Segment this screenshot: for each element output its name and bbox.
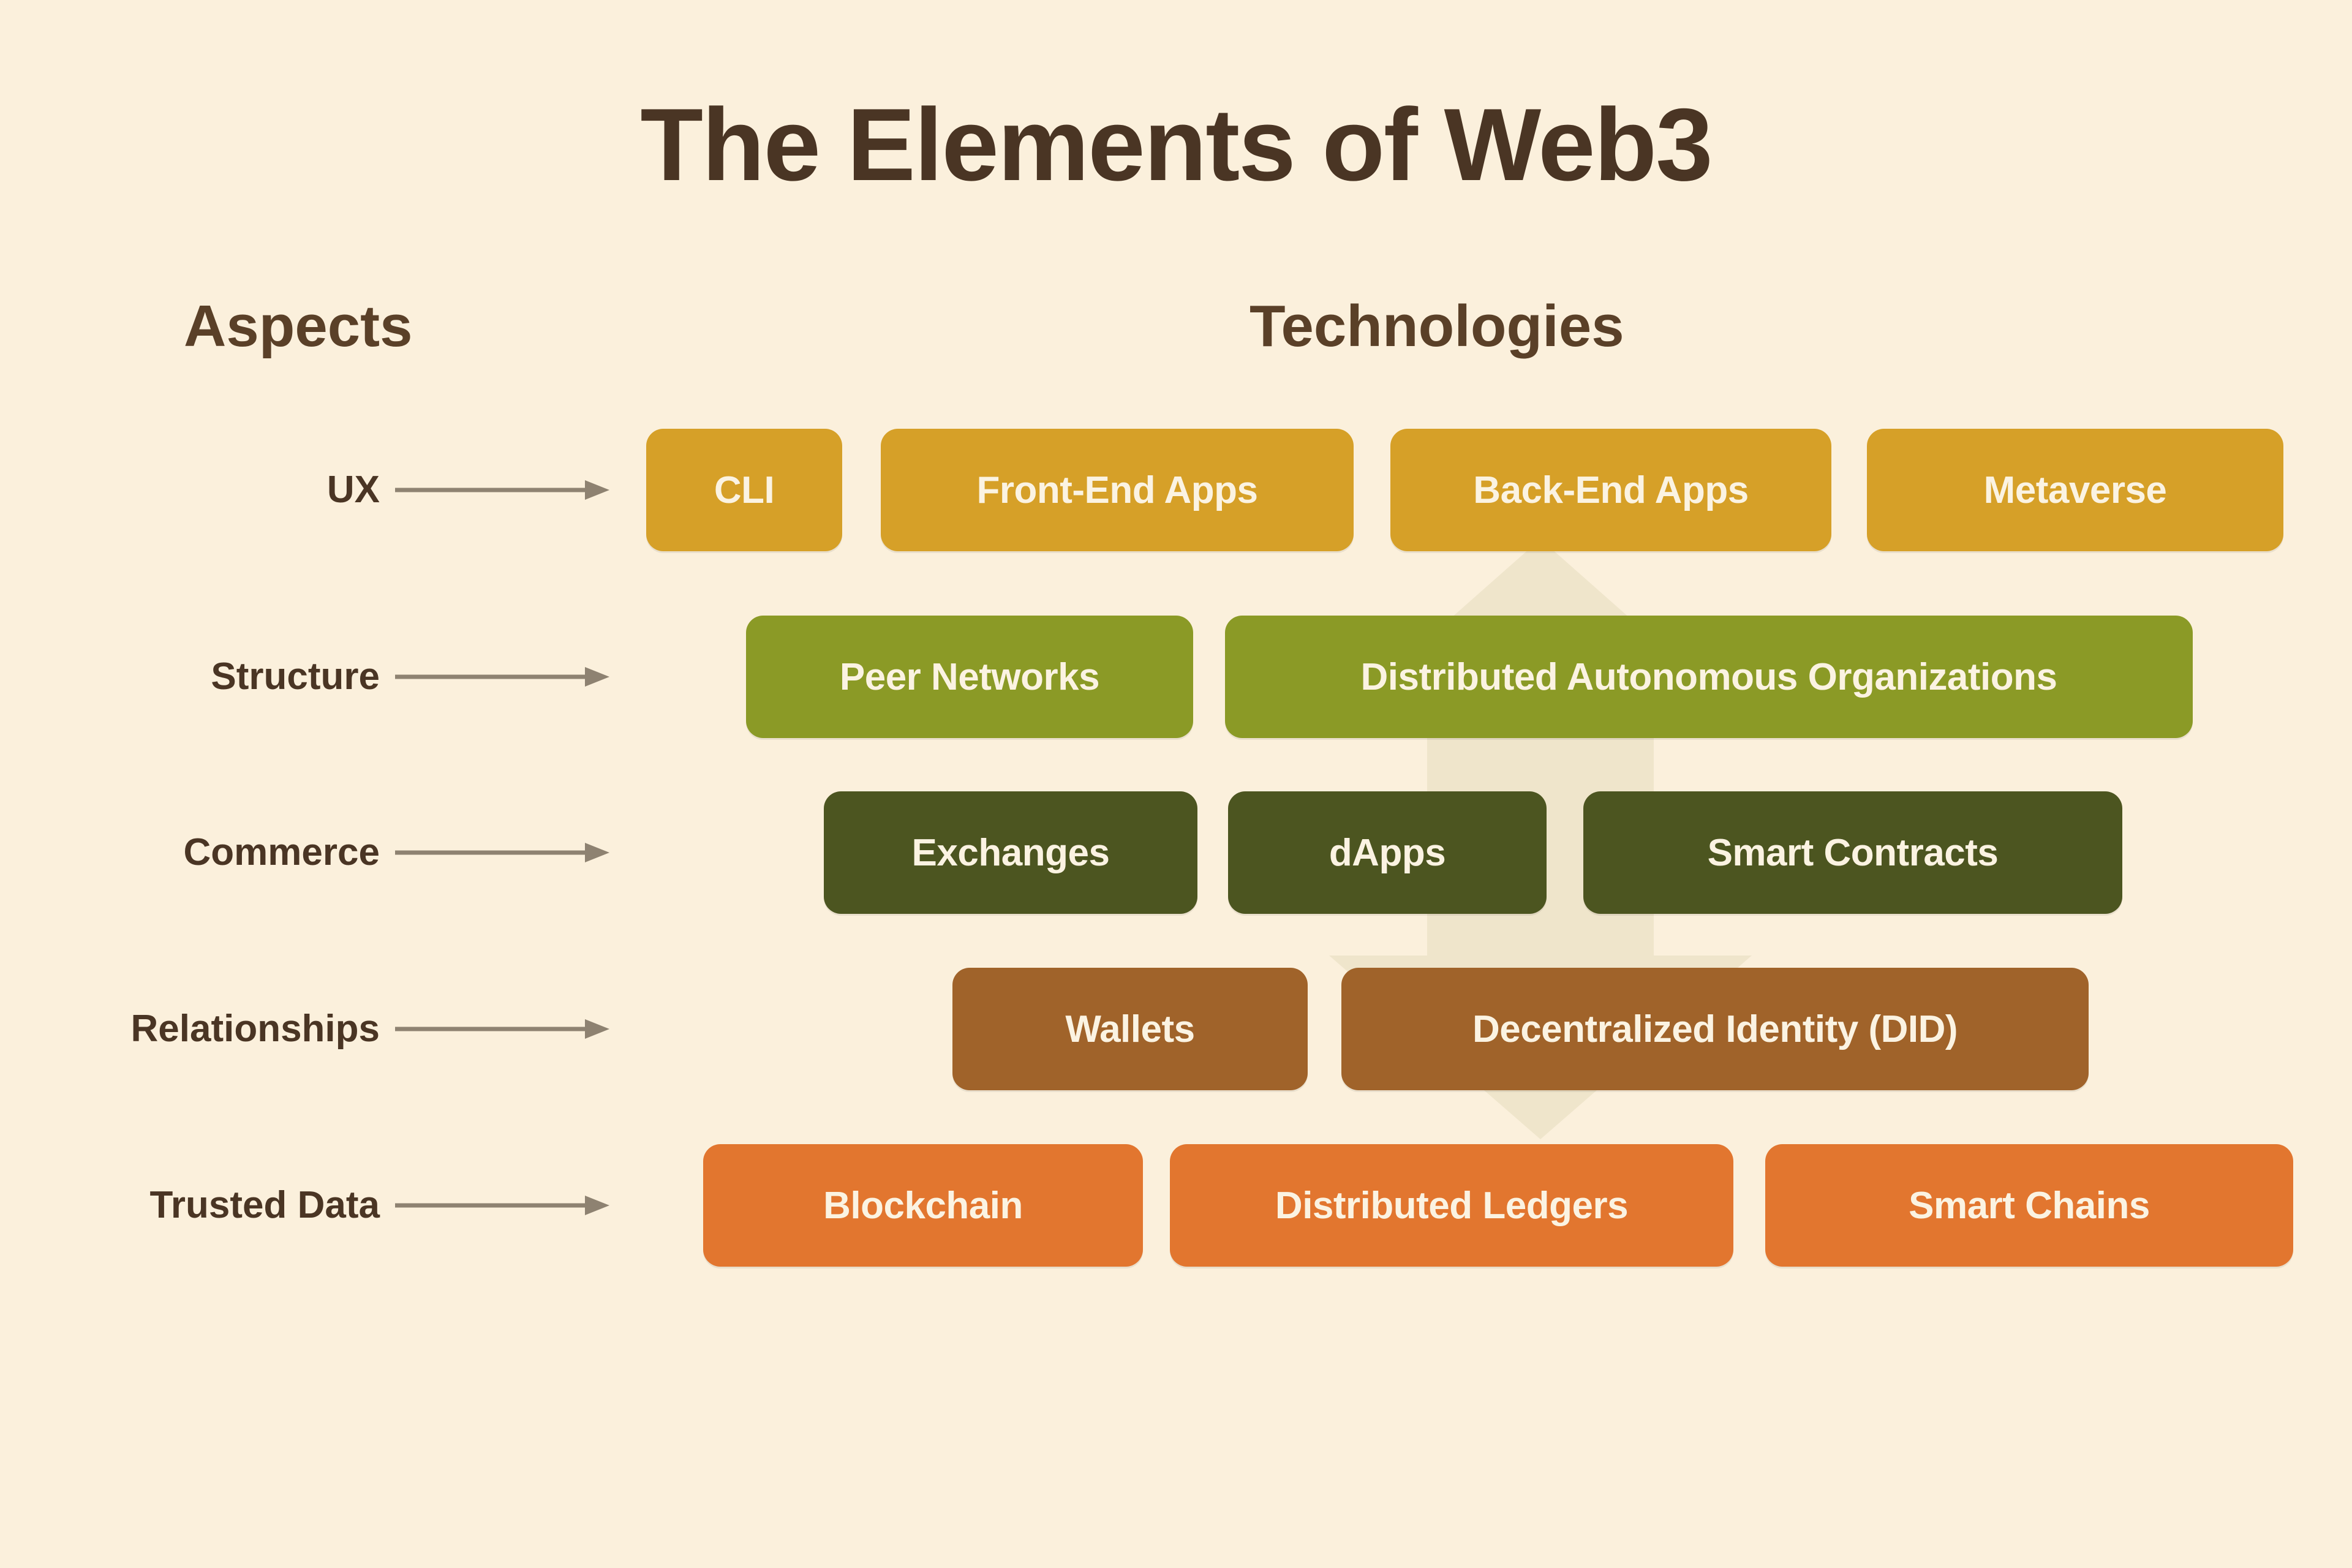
tech-box-label: CLI: [714, 469, 774, 512]
tech-box-label: Smart Contracts: [1708, 831, 1999, 875]
tech-box-label: Peer Networks: [840, 655, 1099, 699]
tech-box-label: Blockchain: [823, 1184, 1023, 1227]
tech-box-label: Metaverse: [1984, 469, 2167, 512]
tech-box-label: Smart Chains: [1909, 1184, 2150, 1227]
tech-box[interactable]: Blockchain: [703, 1144, 1143, 1267]
tech-box-label: Exchanges: [912, 831, 1110, 875]
tech-box[interactable]: Wallets: [952, 968, 1308, 1090]
diagram-row: Relationships Wallets Decentralized Iden…: [0, 968, 2352, 1090]
tech-box-group: Exchanges dApps Smart Contracts: [0, 791, 2352, 914]
tech-box[interactable]: Front-End Apps: [881, 429, 1354, 551]
tech-box-label: Distributed Autonomous Organizations: [1360, 655, 2057, 699]
diagram-row: UX CLI Front-End Apps Back-End Apps Meta…: [0, 429, 2352, 551]
tech-box-group: Blockchain Distributed Ledgers Smart Cha…: [0, 1144, 2352, 1267]
tech-box-label: Back-End Apps: [1473, 469, 1748, 512]
page-title: The Elements of Web3: [0, 86, 2352, 204]
tech-box-label: Front-End Apps: [976, 469, 1257, 512]
tech-box-group: Wallets Decentralized Identity (DID): [0, 968, 2352, 1090]
tech-box[interactable]: Smart Contracts: [1583, 791, 2122, 914]
tech-box-label: Distributed Ledgers: [1275, 1184, 1628, 1227]
tech-box[interactable]: dApps: [1228, 791, 1547, 914]
tech-box-group: CLI Front-End Apps Back-End Apps Metaver…: [0, 429, 2352, 551]
tech-box-label: Decentralized Identity (DID): [1472, 1008, 1958, 1051]
tech-box[interactable]: CLI: [646, 429, 842, 551]
column-header-technologies: Technologies: [1249, 293, 1624, 360]
diagram-row: Structure Peer Networks Distributed Auto…: [0, 616, 2352, 738]
background-arrow-watermark: [0, 0, 2352, 1568]
tech-box-label: Wallets: [1065, 1008, 1194, 1051]
diagram-row: Trusted Data Blockchain Distributed Ledg…: [0, 1144, 2352, 1267]
tech-box[interactable]: Metaverse: [1867, 429, 2283, 551]
tech-box[interactable]: Smart Chains: [1765, 1144, 2293, 1267]
tech-box[interactable]: Exchanges: [824, 791, 1197, 914]
tech-box[interactable]: Back-End Apps: [1390, 429, 1831, 551]
tech-box[interactable]: Distributed Ledgers: [1170, 1144, 1733, 1267]
column-header-aspects: Aspects: [184, 293, 413, 360]
diagram-row: Commerce Exchanges dApps Smart Contracts: [0, 791, 2352, 914]
tech-box[interactable]: Peer Networks: [746, 616, 1193, 738]
tech-box-group: Peer Networks Distributed Autonomous Org…: [0, 616, 2352, 738]
tech-box[interactable]: Decentralized Identity (DID): [1341, 968, 2089, 1090]
tech-box-label: dApps: [1329, 831, 1445, 875]
tech-box[interactable]: Distributed Autonomous Organizations: [1225, 616, 2193, 738]
